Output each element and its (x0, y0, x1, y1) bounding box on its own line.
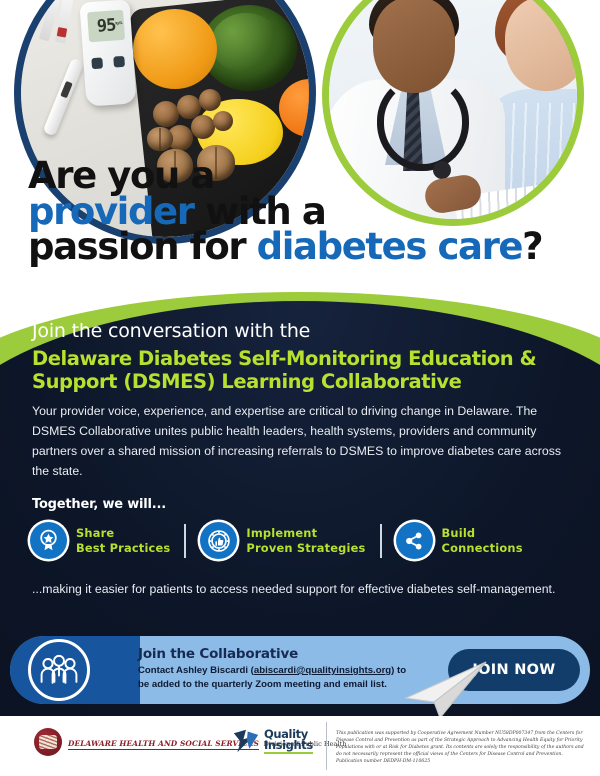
pillar-build-connections[interactable]: Build Connections (396, 522, 523, 559)
pillars-row: Share Best Practices (30, 522, 578, 559)
dhss-seal-icon (34, 728, 62, 756)
pillar-divider-2 (380, 524, 382, 558)
body-paragraph: Your provider voice, experience, and exp… (32, 402, 577, 482)
pillar-share-label: Share Best Practices (76, 526, 170, 555)
dhss-name: DELAWARE HEALTH AND SOCIAL SERVICES (68, 739, 259, 750)
cta-title: Join the Collaborative (138, 646, 418, 662)
together-label: Together, we will... (32, 497, 166, 512)
orange-image (133, 9, 217, 89)
paper-plane-icon (400, 660, 490, 720)
collaborative-title: Delaware Diabetes Self-Monitoring Educat… (32, 347, 572, 393)
page-headline: Are you a provider with a passion for di… (28, 158, 448, 265)
share-network-icon (396, 522, 433, 559)
quality-insights-logo: Quality Insights (232, 728, 313, 754)
headline-line-2: provider with a (28, 194, 448, 230)
headline-words-diabetes-care: diabetes care (257, 225, 522, 268)
stethoscope-image (377, 75, 469, 171)
meter-unit-label: mg/dL (114, 8, 123, 38)
pillar-implement-label: Implement Proven Strategies (246, 526, 365, 555)
pillar-divider-1 (184, 524, 186, 558)
cta-email-link[interactable]: abiscardi@qualityinsights.org (254, 665, 391, 676)
funding-disclaimer: This publication was supported by Cooper… (336, 730, 588, 766)
meter-reading-display: 95mg/dL (87, 10, 125, 42)
qi-line-2: Insights (264, 740, 313, 754)
headline-question-mark: ? (522, 225, 542, 268)
quality-insights-mark-icon (232, 728, 260, 754)
cta-contact-prefix: Contact Ashley Biscardi ( (138, 665, 254, 676)
headline-line-1: Are you a (28, 158, 448, 194)
pillar-share-best-practices[interactable]: Share Best Practices (30, 522, 170, 559)
closing-paragraph: ...making it easier for patients to acce… (32, 580, 577, 598)
footer-divider (326, 722, 327, 770)
footer: DELAWARE HEALTH AND SOCIAL SERVICES Divi… (0, 716, 600, 776)
cta-text-block: Join the Collaborative Contact Ashley Bi… (138, 646, 418, 692)
glucose-meter-device: 95mg/dL (79, 0, 136, 107)
award-ribbon-icon (30, 522, 67, 559)
cta-bar: Join the Collaborative Contact Ashley Bi… (10, 636, 590, 704)
headline-line-3: passion for diabetes care? (28, 229, 448, 265)
three-people-icon (28, 639, 90, 701)
cta-contact-line: Contact Ashley Biscardi (abiscardi@quali… (138, 664, 418, 692)
join-conversation-line: Join the conversation with the (32, 320, 310, 342)
headline-line-3-lead: passion for (28, 225, 257, 268)
pillar-build-label: Build Connections (442, 526, 523, 555)
quality-insights-wordmark: Quality Insights (264, 729, 313, 754)
pillar-implement-proven-strategies[interactable]: Implement Proven Strategies (200, 522, 365, 559)
gear-thumbs-up-icon (200, 522, 237, 559)
